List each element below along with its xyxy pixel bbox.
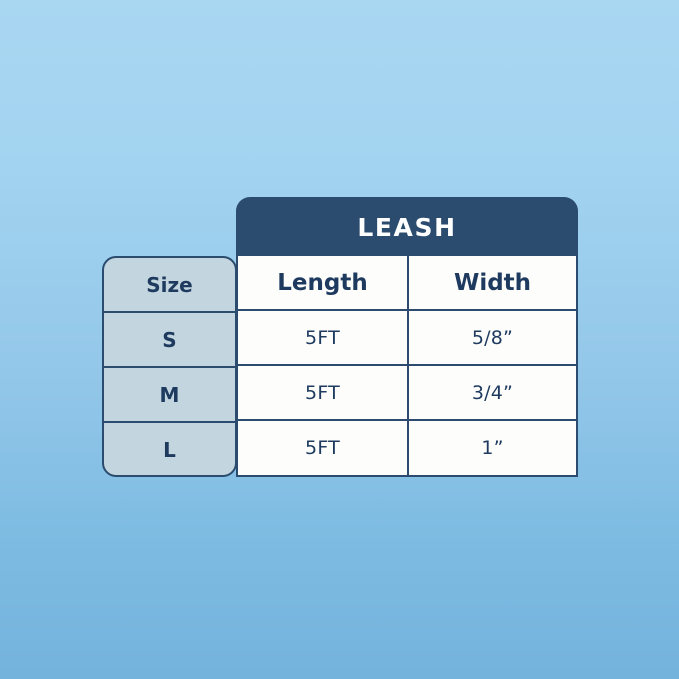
page-title: LEASH xyxy=(357,215,456,240)
length-cell-row-1: 5FT xyxy=(238,366,409,419)
table-title-band: LEASH xyxy=(236,197,578,257)
length-cell-row-2: 5FT xyxy=(238,421,409,475)
size-column: Size S M L xyxy=(102,256,237,477)
size-cell-row-0: S xyxy=(104,313,235,368)
table-row: 5FT 5/8” xyxy=(238,311,576,366)
length-cell-row-0: 5FT xyxy=(238,311,409,364)
size-cell-row-2: L xyxy=(104,423,235,477)
size-cell-row-1: M xyxy=(104,368,235,423)
table-row: 5FT 3/4” xyxy=(238,366,576,421)
measurements-grid: Length Width 5FT 5/8” 5FT 3/4” 5FT 1” xyxy=(236,256,578,477)
table-row: 5FT 1” xyxy=(238,421,576,475)
column-header-length: Length xyxy=(238,256,409,309)
width-cell-row-1: 3/4” xyxy=(409,366,576,419)
column-header-width: Width xyxy=(409,256,576,309)
column-header-size: Size xyxy=(104,258,235,313)
width-cell-row-2: 1” xyxy=(409,421,576,475)
width-cell-row-0: 5/8” xyxy=(409,311,576,364)
size-chart-graphic: LEASH Size S M L Length Width 5FT 5/8” 5… xyxy=(0,0,679,679)
table-header-row: Length Width xyxy=(238,256,576,311)
